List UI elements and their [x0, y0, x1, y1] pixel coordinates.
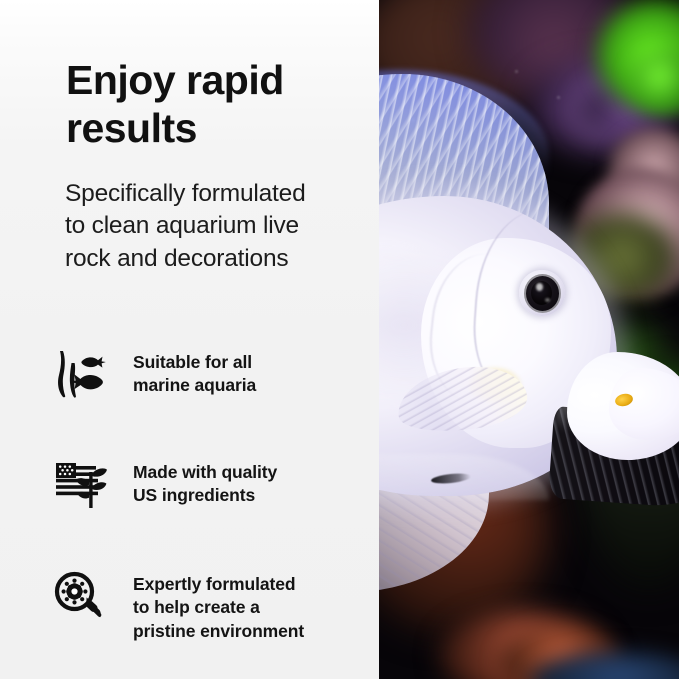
feature-label: Suitable for all marine aquaria [133, 348, 256, 398]
fish-eye-highlight [536, 283, 543, 291]
aquarium-scene [379, 0, 679, 679]
list-item: Suitable for all marine aquaria [52, 348, 372, 400]
feature-label: Expertly formulated to help create a pri… [133, 570, 304, 643]
magnifier-with-germ-icon [52, 570, 114, 622]
product-feature-card: Enjoy rapid results Specifically formula… [0, 0, 679, 679]
water-particle [515, 70, 518, 73]
page-title: Enjoy rapid results [66, 56, 366, 153]
fish-eye-highlight [545, 298, 550, 302]
product-photo [379, 0, 679, 679]
list-item: Expertly formulated to help create a pri… [52, 570, 372, 643]
us-flag-and-plant-icon [52, 458, 114, 510]
left-text-panel: Enjoy rapid results Specifically formula… [0, 0, 379, 679]
list-item: Made with quality US ingredients [52, 458, 372, 510]
feature-label: Made with quality US ingredients [133, 458, 277, 508]
page-subtitle: Specifically formulated to clean aquariu… [65, 178, 370, 275]
water-particle [557, 96, 560, 99]
seaweed-and-fish-icon [52, 348, 114, 400]
